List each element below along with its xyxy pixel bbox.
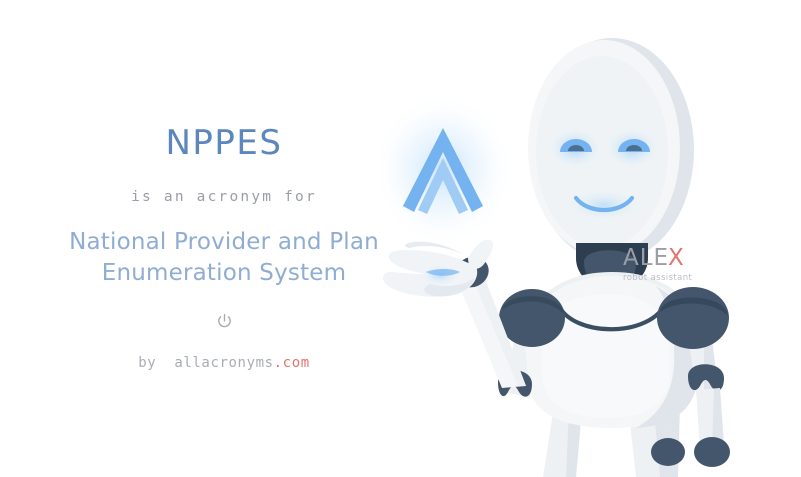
robot-illustration: ALE X robot assistant	[380, 0, 801, 477]
acronym-expansion-line-1: National Provider and Plan	[69, 229, 379, 255]
byline-prefix: by allacronyms	[138, 355, 273, 371]
byline: by allacronyms.com	[138, 331, 310, 371]
double-chevron-up-icon	[380, 92, 515, 248]
acronym-expansion: National Provider and Plan Enumeration S…	[69, 205, 379, 290]
robot-badge: ALE X robot assistant	[623, 245, 693, 283]
robot-head	[528, 38, 694, 262]
byline-tld: .com	[274, 355, 310, 371]
badge-name-gray: ALE	[623, 245, 669, 271]
badge-name-accent: X	[668, 245, 685, 271]
acronym-title: NPPES	[165, 126, 282, 160]
acronym-card: NPPES is an acronym for National Provide…	[0, 0, 801, 477]
acronym-expansion-line-2: Enumeration System	[102, 260, 347, 286]
acronym-connector-text: is an acronym for	[131, 160, 317, 205]
power-icon	[215, 290, 234, 331]
badge-subtitle: robot assistant	[623, 273, 693, 283]
